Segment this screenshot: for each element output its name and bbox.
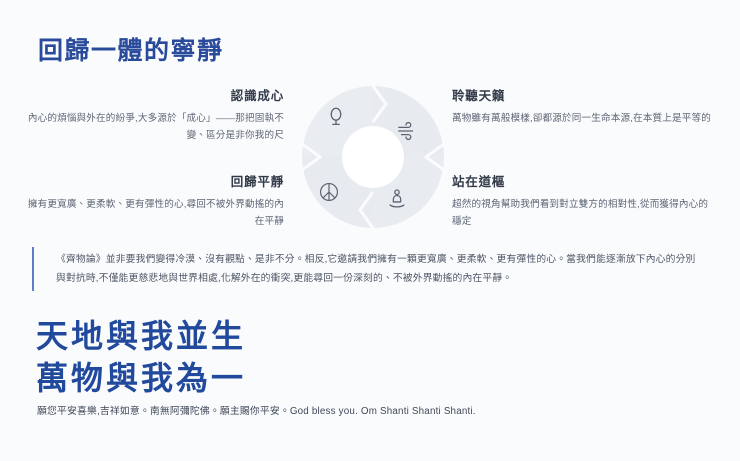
feature-return-to-calm: 回歸平靜 擁有更寬廣、更柔軟、更有彈性的心,尋回不被外界動搖的內在平靜 — [22, 174, 284, 230]
footer-blessing: 願您平安喜樂,吉祥如意。南無阿彌陀佛。願主賜你平安。God bless you.… — [37, 403, 476, 417]
page-title: 回歸一體的寧靜 — [38, 36, 224, 66]
donut-diagram — [298, 82, 448, 232]
feature-title: 聆聽天籟 — [452, 88, 714, 104]
feature-description: 萬物雖有萬般模樣,卻都源於同一生命本源,在本質上是平等的 — [452, 111, 714, 128]
feature-description: 超然的視角幫助我們看到對立雙方的相對性,從而獲得內心的穩定 — [452, 197, 714, 230]
slide-root: 回歸一體的寧靜 認識成心 內心的煩惱與外在的紛爭,大多源於「成心」——那把固執不… — [0, 0, 740, 461]
feature-title: 站在道樞 — [452, 174, 714, 190]
quote-block: 《齊物論》並非要我們變得冷漠、沒有觀點、是非不分。相反,它邀請我們擁有一顆更寬廣… — [32, 247, 704, 291]
donut-hub — [342, 126, 404, 188]
feature-description: 內心的煩惱與外在的紛爭,大多源於「成心」——那把固執不變、區分是非你我的尺 — [22, 111, 284, 144]
feature-description: 擁有更寬廣、更柔軟、更有彈性的心,尋回不被外界動搖的內在平靜 — [22, 197, 284, 230]
feature-title: 認識成心 — [22, 88, 284, 104]
headline: 天地與我並生 萬物與我為一 — [36, 315, 246, 399]
feature-listen-heavenly-pipes: 聆聽天籟 萬物雖有萬般模樣,卻都源於同一生命本源,在本質上是平等的 — [452, 88, 714, 128]
feature-recognize-formed-mind: 認識成心 內心的煩惱與外在的紛爭,大多源於「成心」——那把固執不變、區分是非你我… — [22, 88, 284, 144]
headline-line-1: 天地與我並生 — [36, 315, 246, 357]
quote-text: 《齊物論》並非要我們變得冷漠、沒有觀點、是非不分。相反,它邀請我們擁有一顆更寬廣… — [56, 250, 704, 288]
feature-stand-at-the-pivot: 站在道樞 超然的視角幫助我們看到對立雙方的相對性,從而獲得內心的穩定 — [452, 174, 714, 230]
headline-line-2: 萬物與我為一 — [36, 357, 246, 399]
feature-title: 回歸平靜 — [22, 174, 284, 190]
